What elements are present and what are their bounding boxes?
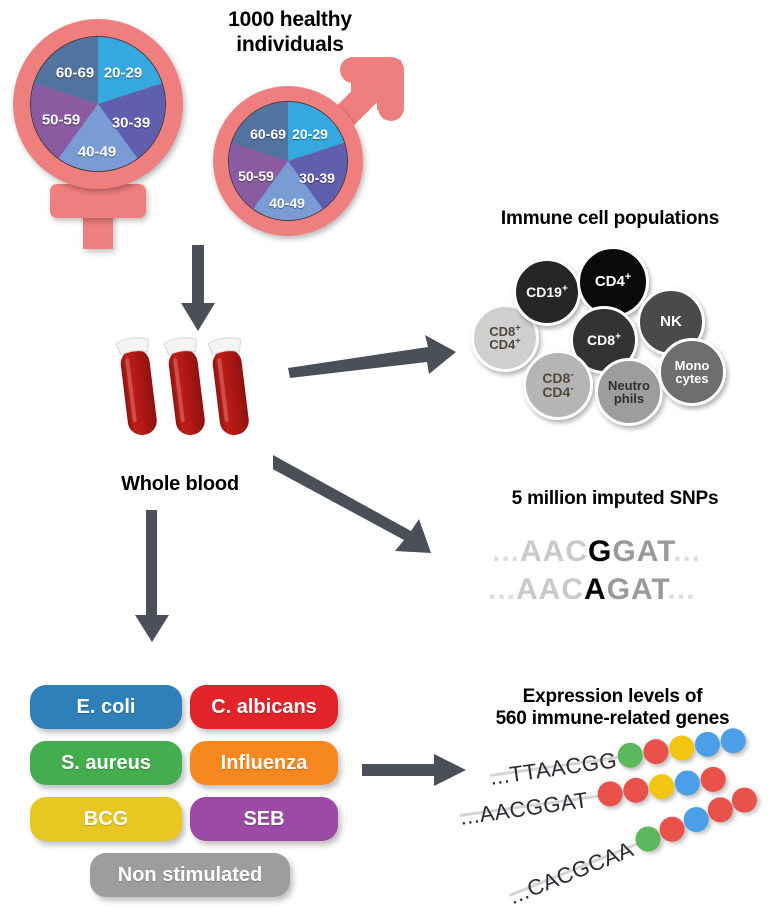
snp-heading: 5 million imputed SNPs bbox=[470, 488, 760, 510]
bead bbox=[673, 769, 701, 797]
pie-label-30-39: 30-39 bbox=[299, 170, 335, 186]
snp-suffix: ... bbox=[667, 573, 695, 606]
pie-label-30-39: 30-39 bbox=[112, 115, 150, 132]
pie-label-60-69: 60-69 bbox=[56, 65, 94, 82]
snp-right: GAT bbox=[612, 535, 673, 568]
snp-prefix: ... bbox=[492, 535, 520, 568]
stimulus-label: Influenza bbox=[221, 752, 308, 775]
stimulus-label: BCG bbox=[84, 808, 128, 831]
cell-monocytes[interactable]: Monocytes bbox=[658, 338, 726, 406]
strand-sequence: ...AACGGAT bbox=[458, 787, 590, 831]
arrow-blood-to-immune bbox=[288, 330, 458, 380]
expression-heading-line1: Expression levels of bbox=[460, 686, 765, 708]
stimulus-label: Non stimulated bbox=[118, 864, 262, 887]
cell-label: CD19+ bbox=[526, 285, 568, 299]
snp-sequence-row-2: ...AACAGAT... bbox=[488, 573, 695, 607]
cell-label: CD8+CD4+ bbox=[489, 325, 520, 352]
pie-label-60-69: 60-69 bbox=[250, 126, 286, 142]
cell-cd8-cd4-negative[interactable]: CD8-CD4- bbox=[523, 350, 593, 420]
bead bbox=[719, 727, 747, 755]
snp-variant: G bbox=[588, 535, 612, 568]
snp-left: AAC bbox=[516, 573, 584, 606]
expression-heading: Expression levels of 560 immune-related … bbox=[460, 686, 765, 731]
arrow-blood-to-snp bbox=[273, 455, 453, 560]
bead bbox=[699, 765, 727, 793]
cell-label: CD4+ bbox=[595, 274, 631, 289]
pie-label-40-49: 40-49 bbox=[269, 195, 305, 211]
immune-cell-cluster: CD8+CD4+ CD19+ CD4+ NK CD8+ CD8-CD4- Neu… bbox=[465, 240, 765, 420]
cell-label: NK bbox=[660, 314, 682, 329]
male-age-pie: 20-29 30-39 40-49 50-59 60-69 bbox=[228, 101, 348, 221]
cell-neutrophils[interactable]: Neutrophils bbox=[595, 358, 663, 426]
pie-label-50-59: 50-59 bbox=[238, 168, 274, 184]
female-age-pie: 20-29 30-39 40-49 50-59 60-69 bbox=[30, 36, 166, 172]
bead bbox=[647, 773, 675, 801]
expression-heading-line2: 560 immune-related genes bbox=[460, 708, 765, 730]
strand-sequence: ...TTAACGG bbox=[488, 747, 618, 791]
stimulus-c-albicans[interactable]: C. albicans bbox=[190, 685, 338, 729]
expression-strands: ...TTAACGG ...AACGGAT ...CACGCAA bbox=[455, 740, 771, 920]
female-symbol[interactable]: 20-29 30-39 40-49 50-59 60-69 bbox=[8, 14, 188, 259]
arrow-blood-to-stimuli bbox=[133, 510, 173, 645]
stimulus-label: E. coli bbox=[77, 696, 136, 719]
bead bbox=[596, 780, 624, 808]
cell-label: Neutrophils bbox=[608, 379, 650, 406]
immune-heading: Immune cell populations bbox=[455, 208, 765, 230]
stimulus-bcg[interactable]: BCG bbox=[30, 797, 182, 841]
cell-label: CD8+ bbox=[587, 333, 621, 347]
snp-prefix: ... bbox=[488, 573, 516, 606]
snp-suffix: ... bbox=[673, 535, 701, 568]
snp-sequence-row-1: ...AACGGAT... bbox=[492, 535, 701, 569]
stimulus-seb[interactable]: SEB bbox=[190, 797, 338, 841]
stimulus-influenza[interactable]: Influenza bbox=[190, 741, 338, 785]
cell-label: CD8-CD4- bbox=[542, 371, 573, 400]
pie-label-50-59: 50-59 bbox=[42, 112, 80, 129]
male-symbol[interactable]: 20-29 30-39 40-49 50-59 60-69 bbox=[205, 38, 420, 243]
blood-tubes bbox=[110, 335, 250, 450]
strand-sequence: ...CACGCAA bbox=[505, 836, 637, 910]
bead bbox=[642, 738, 670, 766]
bead bbox=[668, 734, 696, 762]
stimuli-grid: E. coli C. albicans S. aureus Influenza … bbox=[30, 685, 345, 885]
bead bbox=[622, 776, 650, 804]
stimulus-label: C. albicans bbox=[211, 696, 317, 719]
pie-label-20-29: 20-29 bbox=[292, 126, 328, 142]
female-crossbar bbox=[50, 184, 146, 218]
cell-cd19[interactable]: CD19+ bbox=[513, 258, 581, 326]
stimulus-non-stimulated[interactable]: Non stimulated bbox=[90, 853, 290, 897]
snp-right: GAT bbox=[607, 573, 668, 606]
pie-label-40-49: 40-49 bbox=[78, 144, 116, 161]
cell-label: Monocytes bbox=[675, 359, 710, 386]
stimulus-e-coli[interactable]: E. coli bbox=[30, 685, 182, 729]
pie-label-20-29: 20-29 bbox=[104, 65, 142, 82]
snp-left: AAC bbox=[520, 535, 588, 568]
stimulus-label: S. aureus bbox=[61, 752, 151, 775]
stimulus-label: SEB bbox=[243, 808, 284, 831]
whole-blood-label: Whole blood bbox=[85, 473, 275, 497]
cohort-heading-line1: 1000 healthy bbox=[180, 8, 400, 33]
bead bbox=[693, 730, 721, 758]
figure-canvas: 1000 healthy individuals 20-29 30-39 40-… bbox=[0, 0, 771, 922]
stimulus-s-aureus[interactable]: S. aureus bbox=[30, 741, 182, 785]
arrow-cohort-to-blood bbox=[178, 245, 218, 335]
snp-variant: A bbox=[584, 573, 607, 606]
bead bbox=[616, 741, 644, 769]
